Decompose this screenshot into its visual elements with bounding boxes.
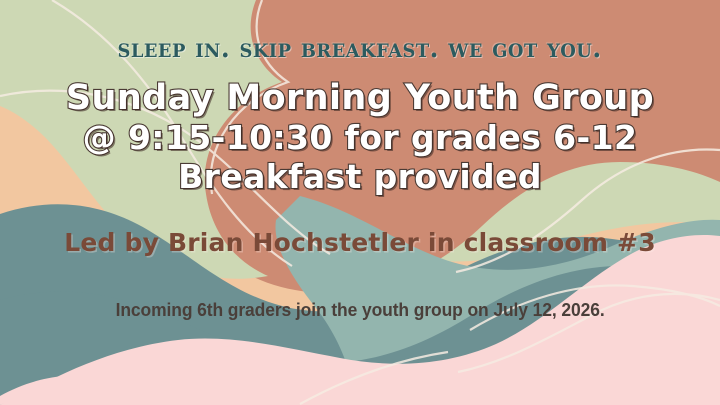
incoming-graders-footnote: Incoming 6th graders join the youth grou… (115, 300, 604, 321)
main-line-breakfast: Breakfast provided (66, 158, 654, 197)
main-line-event-name: Sunday Morning Youth Group (66, 78, 654, 119)
main-line-time-and-grades: @ 9:15-10:30 for grades 6-12 (66, 119, 654, 158)
leader-and-room-line: Led by Brian Hochstetler in classroom #3 (64, 228, 656, 257)
poster-text-content: Sleep in. Skip breakfast. We got you. Su… (0, 0, 720, 405)
headline-tagline: Sleep in. Skip breakfast. We got you. (118, 33, 602, 64)
main-event-block: Sunday Morning Youth Group @ 9:15-10:30 … (66, 78, 654, 197)
announcement-poster: Sleep in. Skip breakfast. We got you. Su… (0, 0, 720, 405)
